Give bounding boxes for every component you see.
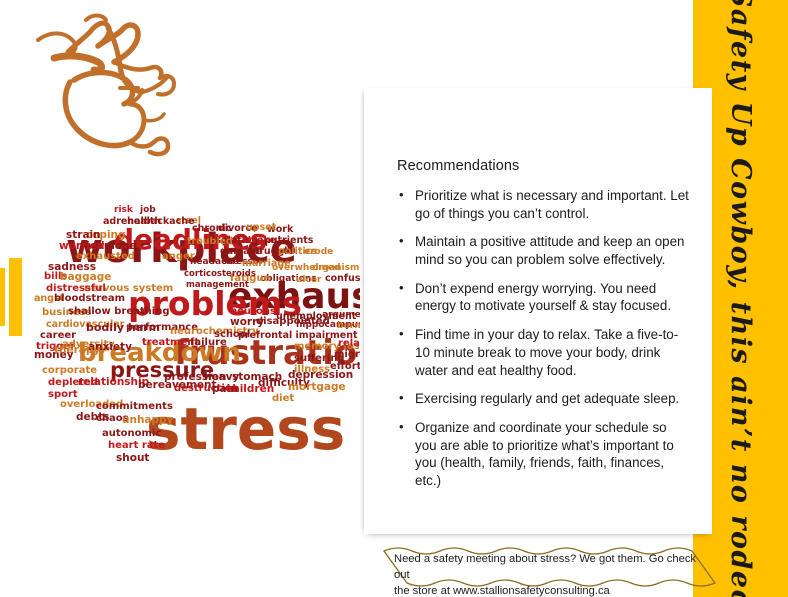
wordcloud-word: upset xyxy=(246,223,276,233)
promo-line-1: Need a safety meeting about stress? We g… xyxy=(394,552,708,584)
wordcloud-word: corporate xyxy=(42,366,97,376)
promo-callout-text: Need a safety meeting about stress? We g… xyxy=(394,552,708,597)
wordcloud-word: shallow breathing xyxy=(68,307,170,317)
recommendation-item: •Maintain a positive attitude and keep a… xyxy=(397,233,690,268)
recommendation-text: Prioritize what is necessary and importa… xyxy=(415,188,689,221)
recommendation-text: Maintain a positive attitude and keep an… xyxy=(415,234,685,267)
wordcloud-word: confusion xyxy=(325,274,360,284)
wordcloud-word: failure xyxy=(190,338,227,348)
wordcloud-word: ulcer xyxy=(296,276,321,285)
slide-canvas: Safety Up Cowboy, this ain’t no rodeo xyxy=(0,0,788,597)
wordcloud-word: shout xyxy=(116,453,149,464)
wordcloud-word: corticosteroids xyxy=(184,270,256,279)
wordcloud-word: disappointed xyxy=(256,317,330,327)
recommendation-text: Find time in your day to relax. Take a f… xyxy=(415,327,678,377)
wordcloud-word: organism xyxy=(312,264,359,273)
recommendation-item: •Exercising regularly and get adequate s… xyxy=(397,390,690,408)
wordcloud-word: job xyxy=(140,206,156,215)
wordcloud-word: bloodstream xyxy=(54,294,125,304)
wordcloud-word: anger xyxy=(162,252,195,262)
wordcloud-word: unhappy xyxy=(122,415,173,426)
recommendation-text: Exercising regularly and get adequate sl… xyxy=(415,391,679,406)
wordcloud-word: management xyxy=(186,281,249,290)
wordcloud-word: adrenal xyxy=(103,217,144,227)
wordcloud-word: baggage xyxy=(60,272,111,283)
wordcloud-word: therapy xyxy=(54,345,100,356)
bullet-icon: • xyxy=(399,325,404,342)
page-title: Recommendations xyxy=(397,158,690,174)
wordcloud-word: mortgage xyxy=(288,382,346,393)
wordcloud-word: diet xyxy=(272,394,294,404)
bullet-icon: • xyxy=(399,389,404,406)
wordcloud-word: depression xyxy=(288,370,353,381)
wordcloud-word: commitments xyxy=(96,402,173,412)
bullet-icon: • xyxy=(399,232,404,249)
promo-callout[interactable]: Need a safety meeting about stress? We g… xyxy=(381,545,718,589)
recommendation-text: Organize and coordinate your schedule so… xyxy=(415,420,674,488)
promo-line-2: the store at www.stallionsafetyconsultin… xyxy=(394,584,708,597)
wordcloud-word: autonomic xyxy=(102,429,161,439)
wordcloud-word: marriage xyxy=(242,259,291,269)
recommendations-list: •Prioritize what is necessary and import… xyxy=(397,187,690,490)
wordcloud-word: worried xyxy=(59,241,105,252)
wordcloud-word: stress xyxy=(146,400,345,458)
wordcloud-word: relaxed xyxy=(338,339,360,349)
recommendation-text: Don’t expend energy worrying. You need e… xyxy=(415,281,671,314)
bullet-icon: • xyxy=(399,418,404,435)
recommendation-item: •Prioritize what is necessary and import… xyxy=(397,187,690,222)
stress-word-cloud: stressworkplaceexhaustionfrustrationprob… xyxy=(4,192,360,477)
recommendation-item: •Find time in your day to relax. Take a … xyxy=(397,326,690,379)
recommendations-panel: Recommendations •Prioritize what is nece… xyxy=(364,88,712,534)
recommendation-item: •Organize and coordinate your schedule s… xyxy=(397,419,690,490)
wordcloud-word: erode xyxy=(304,248,333,257)
wordcloud-word: heart rate xyxy=(108,441,165,451)
bullet-icon: • xyxy=(399,186,404,203)
wordcloud-word: nutrients xyxy=(264,236,313,246)
recommendation-item: •Don’t expend energy worrying. You need … xyxy=(397,280,690,315)
wordcloud-word: troubled xyxy=(187,237,233,247)
wordcloud-word: strain xyxy=(66,230,101,241)
stallion-horse-logo xyxy=(34,12,184,162)
bullet-icon: • xyxy=(399,279,404,296)
wordcloud-word: risk xyxy=(114,206,133,215)
